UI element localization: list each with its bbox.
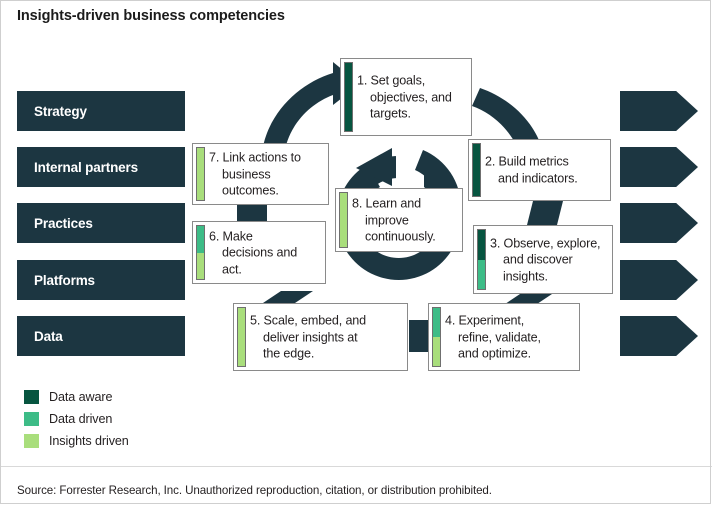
step-text-line: 2. Build metrics	[485, 154, 604, 171]
legend-item-data-aware: Data aware	[24, 390, 112, 404]
step-text-line: 1. Set goals,	[357, 72, 465, 89]
inner-cycle-arrowhead	[356, 148, 392, 186]
legend-label: Data aware	[49, 390, 112, 404]
step-8-learn-improve: 8. Learn andimprovecontinuously.	[335, 188, 463, 252]
step-text-line: business	[209, 166, 322, 183]
step-text: 8. Learn andimprovecontinuously.	[352, 195, 456, 245]
maturity-segment-insights-driven	[197, 148, 204, 200]
maturity-color-bar	[237, 307, 246, 367]
chevron-data	[620, 316, 698, 356]
arrow-6-to-7	[237, 205, 267, 221]
step-1-set-goals: 1. Set goals,objectives, andtargets.	[340, 58, 472, 136]
step-text: 2. Build metricsand indicators.	[485, 154, 604, 187]
step-text-line: targets.	[357, 105, 465, 122]
competency-label: Internal partners	[17, 160, 138, 175]
step-text-line: 3. Observe, explore,	[490, 235, 606, 252]
step-text-line: deliver insights at	[250, 329, 401, 346]
chevron-platforms	[620, 260, 698, 300]
maturity-color-bar	[344, 62, 353, 132]
maturity-segment-insights-driven	[340, 193, 347, 247]
step-text-line: and discover	[490, 251, 606, 268]
step-6-make-decisions: 6. Makedecisions andact.	[192, 221, 326, 284]
legend-swatch	[24, 434, 39, 448]
arrow-2-to-3	[527, 201, 563, 225]
step-text-line: 7. Link actions to	[209, 149, 322, 166]
maturity-color-bar	[339, 192, 348, 248]
step-text-line: outcomes.	[209, 182, 322, 199]
step-text-line: 4. Experiment,	[445, 312, 573, 329]
competency-bar-data: Data	[17, 316, 185, 356]
legend-item-insights-driven: Insights driven	[24, 434, 129, 448]
chevron-practices	[620, 203, 698, 243]
legend-swatch	[24, 390, 39, 404]
maturity-segment-insights-driven	[433, 337, 440, 366]
step-text-line: 8. Learn and	[352, 195, 456, 212]
step-text-line: and optimize.	[445, 345, 573, 362]
diagram-canvas: Insights-driven business competencies St…	[0, 0, 712, 505]
legend-swatch	[24, 412, 39, 426]
step-text-line: improve	[352, 212, 456, 229]
maturity-color-bar	[196, 225, 205, 280]
maturity-color-bar	[432, 307, 441, 367]
legend-label: Insights driven	[49, 434, 129, 448]
maturity-segment-data-aware	[478, 230, 485, 260]
step-text-line: decisions and	[209, 244, 319, 261]
step-text: 6. Makedecisions andact.	[209, 228, 319, 278]
step-text-line: objectives, and	[357, 89, 465, 106]
competency-bar-strategy: Strategy	[17, 91, 185, 131]
step-text-line: refine, validate,	[445, 329, 573, 346]
maturity-segment-data-driven	[478, 260, 485, 290]
legend-label: Data driven	[49, 412, 112, 426]
maturity-segment-data-driven	[197, 226, 204, 253]
step-7-link-actions: 7. Link actions tobusinessoutcomes.	[192, 143, 329, 205]
legend-item-data-driven: Data driven	[24, 412, 112, 426]
maturity-color-bar	[196, 147, 205, 201]
maturity-segment-insights-driven	[238, 308, 245, 366]
step-5-scale-embed: 5. Scale, embed, anddeliver insights att…	[233, 303, 408, 371]
step-text-line: 5. Scale, embed, and	[250, 312, 401, 329]
maturity-segment-data-aware	[345, 63, 352, 131]
step-text-line: the edge.	[250, 345, 401, 362]
footer-divider	[0, 466, 712, 467]
page-title: Insights-driven business competencies	[17, 8, 285, 24]
maturity-segment-data-aware	[473, 144, 480, 196]
maturity-color-bar	[477, 229, 486, 290]
step-text-line: and indicators.	[485, 170, 604, 187]
chevron-internal-partners	[620, 147, 698, 187]
step-3-observe-explore: 3. Observe, explore,and discoverinsights…	[473, 225, 613, 294]
step-text-line: insights.	[490, 268, 606, 285]
competency-label: Data	[17, 329, 63, 344]
chevron-strategy	[620, 91, 698, 131]
step-text: 3. Observe, explore,and discoverinsights…	[490, 235, 606, 285]
competency-label: Strategy	[17, 104, 87, 119]
maturity-segment-data-driven	[433, 308, 440, 337]
step-text: 4. Experiment,refine, validate,and optim…	[445, 312, 573, 362]
competency-bar-practices: Practices	[17, 203, 185, 243]
competency-bar-internal-partners: Internal partners	[17, 147, 185, 187]
step-text-line: 6. Make	[209, 228, 319, 245]
step-2-build-metrics: 2. Build metricsand indicators.	[468, 139, 611, 201]
competency-bar-platforms: Platforms	[17, 260, 185, 300]
step-text: 5. Scale, embed, anddeliver insights att…	[250, 312, 401, 362]
competency-label: Platforms	[17, 273, 95, 288]
step-text: 1. Set goals,objectives, andtargets.	[357, 72, 465, 122]
step-4-experiment-refine: 4. Experiment,refine, validate,and optim…	[428, 303, 580, 371]
maturity-segment-insights-driven	[197, 253, 204, 280]
step-text: 7. Link actions tobusinessoutcomes.	[209, 149, 322, 199]
step-text-line: act.	[209, 261, 319, 278]
arrow-5-to-6	[263, 291, 313, 303]
step-text-line: continuously.	[352, 228, 456, 245]
source-note: Source: Forrester Research, Inc. Unautho…	[17, 484, 492, 497]
competency-label: Practices	[17, 216, 93, 231]
maturity-color-bar	[472, 143, 481, 197]
